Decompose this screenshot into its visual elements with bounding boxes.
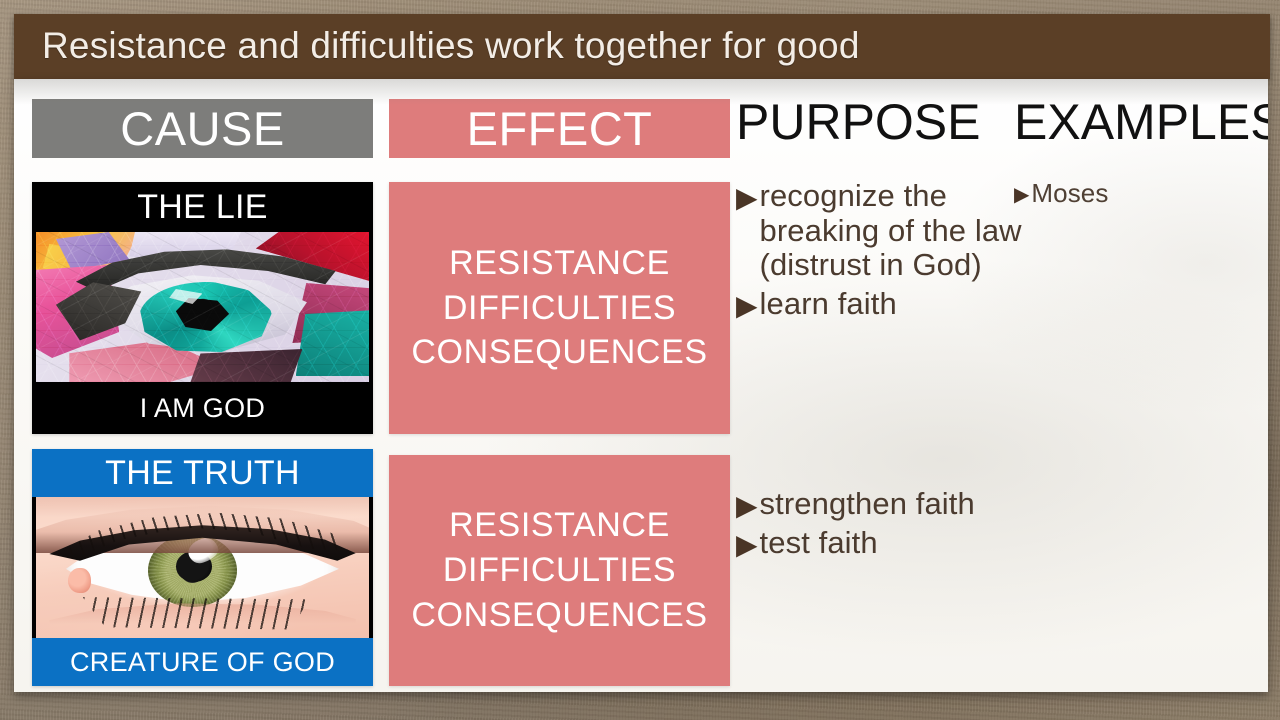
effect-line: DIFFICULTIES — [443, 286, 676, 331]
cause-caption-bottom: I AM GOD — [32, 382, 373, 434]
list-item: ▶ learn faith — [736, 287, 1022, 322]
cause-caption-top: THE LIE — [32, 182, 373, 232]
effect-cell-row-1: RESISTANCE DIFFICULTIES CONSEQUENCES — [389, 182, 730, 434]
page-title: Resistance and difficulties work togethe… — [42, 25, 860, 67]
triangle-bullet-icon: ▶ — [736, 184, 758, 212]
column-header-purpose: PURPOSE — [736, 97, 1026, 157]
effect-line: RESISTANCE — [449, 503, 670, 548]
low-poly-eye-image — [36, 232, 369, 382]
triangle-bullet-icon: ▶ — [736, 531, 758, 559]
column-header-effect: EFFECT — [389, 99, 730, 158]
column-header-effect-label: EFFECT — [467, 105, 653, 152]
slide-title-banner: Resistance and difficulties work togethe… — [14, 14, 1270, 79]
column-header-cause-label: CAUSE — [120, 105, 284, 152]
triangle-bullet-icon: ▶ — [736, 492, 758, 520]
cause-card-the-lie: THE LIE — [32, 182, 373, 434]
cause-caption-top: THE TRUTH — [32, 449, 373, 497]
list-item: ▶ test faith — [736, 526, 1022, 561]
effect-line: DIFFICULTIES — [443, 548, 676, 593]
list-item: ▶ strengthen faith — [736, 487, 1022, 522]
triangle-bullet-icon: ▶ — [1014, 185, 1029, 205]
cause-caption-bottom: CREATURE OF GOD — [32, 638, 373, 686]
list-item-label: test faith — [760, 526, 878, 561]
column-header-examples: EXAMPLES — [1014, 97, 1268, 157]
effect-line: CONSEQUENCES — [411, 593, 707, 638]
human-eye-image — [36, 497, 369, 638]
column-header-examples-label: EXAMPLES — [1014, 97, 1268, 147]
purpose-list-row-1: ▶ recognize the breaking of the law (dis… — [736, 179, 1022, 326]
list-item-label: Moses — [1031, 179, 1108, 208]
list-item: ▶ Moses — [1014, 179, 1264, 208]
cause-card-the-truth: THE TRUTH CREATUR — [32, 449, 373, 686]
examples-list-row-1: ▶ Moses — [1014, 179, 1264, 212]
slide-body: CAUSE EFFECT PURPOSE EXAMPLES THE LIE — [14, 79, 1268, 692]
list-item-label: recognize the breaking of the law (distr… — [760, 179, 1022, 283]
purpose-list-row-2: ▶ strengthen faith ▶ test faith — [736, 487, 1022, 564]
column-header-cause: CAUSE — [32, 99, 373, 158]
effect-cell-row-2: RESISTANCE DIFFICULTIES CONSEQUENCES — [389, 455, 730, 686]
triangle-bullet-icon: ▶ — [736, 292, 758, 320]
column-header-purpose-label: PURPOSE — [736, 97, 981, 147]
list-item: ▶ recognize the breaking of the law (dis… — [736, 179, 1022, 283]
list-item-label: learn faith — [760, 287, 897, 322]
effect-line: CONSEQUENCES — [411, 330, 707, 375]
effect-line: RESISTANCE — [449, 241, 670, 286]
list-item-label: strengthen faith — [760, 487, 975, 522]
